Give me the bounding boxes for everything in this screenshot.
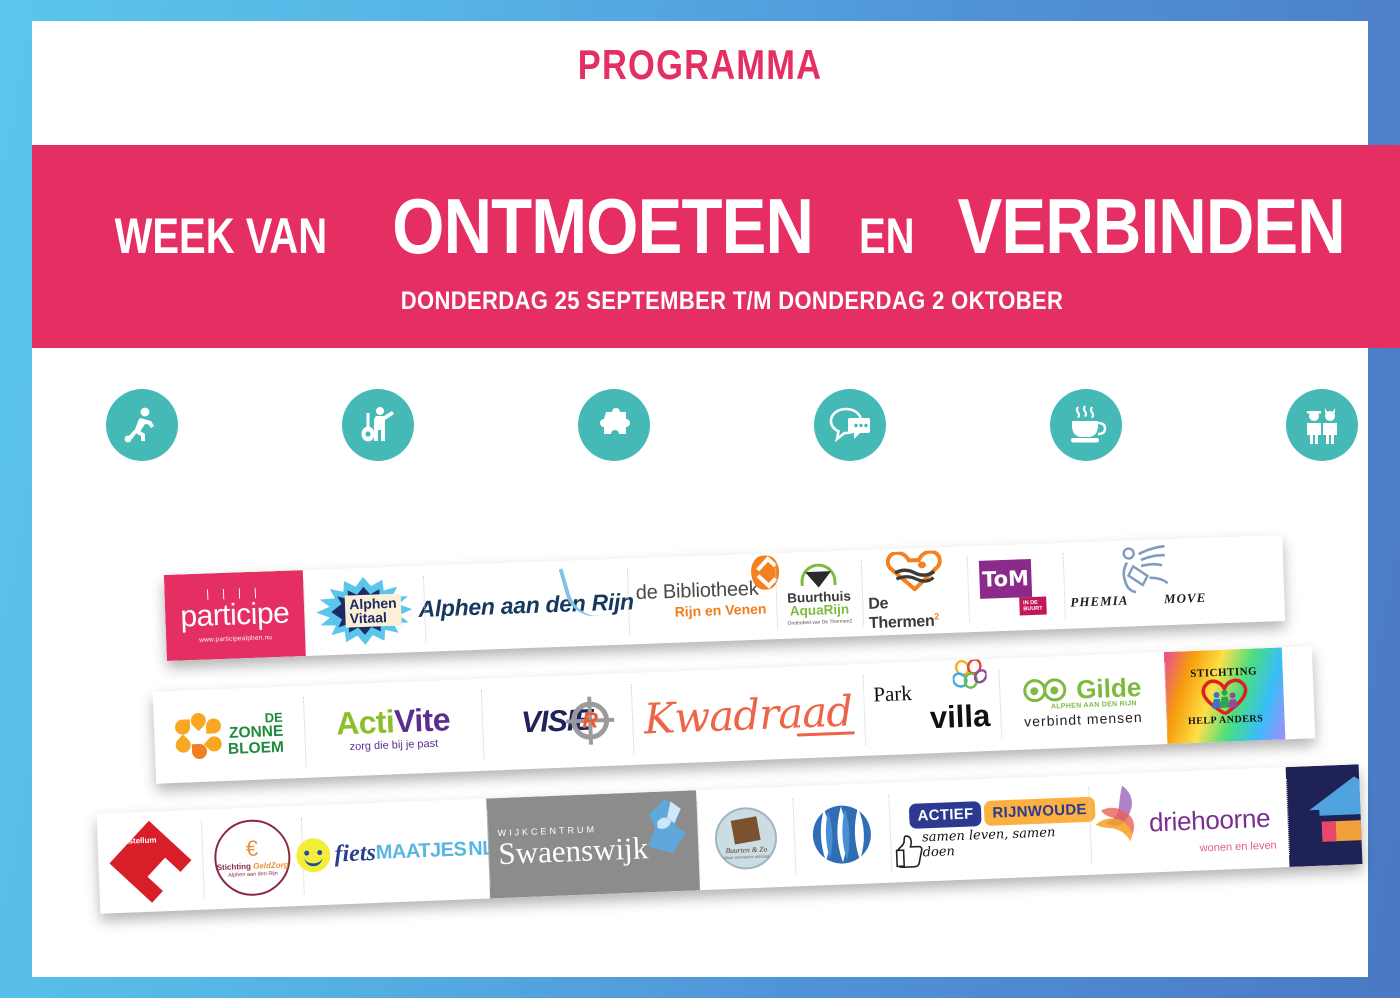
swaenswijk-swan-map-icon xyxy=(640,797,690,857)
gilde-owl-icon xyxy=(1023,676,1074,706)
logo-phemia-move: PHEMIA MOVE xyxy=(1062,538,1215,629)
logo-strip-3: castellum € Stichting GeldZorg Alphen aa… xyxy=(97,764,1363,914)
castellum-wordmark: castellum xyxy=(119,836,156,846)
logo-buurten-en-zo: Buurten & Zo Waar ontmoeten ontstaat xyxy=(696,787,796,891)
logo-blue-globe xyxy=(792,783,892,887)
alphen-vitaal-burst-icon: Alphen Vitaal xyxy=(311,573,418,649)
coffee-cup-icon xyxy=(1050,389,1122,461)
page-title: PROGRAMMA xyxy=(152,41,1248,89)
participe-url: www.participealphen.nu xyxy=(199,634,272,644)
logo-alphen-vitaal: Alphen Vitaal xyxy=(303,566,426,656)
music-figure-icon xyxy=(342,389,414,461)
gilde-tagline: verbindt mensen xyxy=(1024,709,1143,730)
logo-driehoorne: driehoorne wonen en leven xyxy=(1088,767,1290,875)
castellum-diamond-icon xyxy=(109,821,191,903)
aquarijn-house-icon xyxy=(796,563,841,591)
participe-wordmark: participe xyxy=(180,599,290,633)
title-part-ontmoeten: ONTMOETEN xyxy=(392,187,813,265)
geldzorg-line2: Alphen aan den Rijn xyxy=(228,871,278,879)
swaenswijk-line2: Swaenswijk xyxy=(498,832,649,869)
logo-de-zonnebloem: DE ZONNE BLOEM xyxy=(153,686,306,784)
logo-stichting-geldzorg: € Stichting GeldZorg Alphen aan den Rijn xyxy=(200,806,304,910)
park-villa-leaf-icon xyxy=(952,659,987,692)
logo-participe: | | | | participe www.participealphen.nu xyxy=(164,570,306,661)
thermen-wordmark: De Thermen2 xyxy=(868,592,963,633)
visie-target-icon: R xyxy=(565,696,615,746)
samen-buurt-tagline: SAMEN MAKEN WIJ DE BUURT xyxy=(1360,788,1363,827)
fietsmaatjes-smiley-icon xyxy=(296,838,331,873)
logo-de-thermen: De Thermen2 xyxy=(860,546,969,636)
logo-de-bibliotheek: de Bibliotheek Rijn en Venen xyxy=(627,553,778,644)
tom-sublabel: IN DEBUURT xyxy=(1019,596,1047,615)
logo-wijkcentrum-swaenswijk: WIJKCENTRUM Swaenswijk xyxy=(486,790,700,898)
logo-castellum: castellum xyxy=(97,810,205,914)
logo-fietsmaatjes: fiets MAATJES NL xyxy=(300,799,490,906)
alphen-aan-den-rijn-wordmark: Alphen aan den Rijn xyxy=(418,588,634,623)
logo-gilde: Gilde ALPHEN AAN DEN RIJN verbindt mense… xyxy=(998,652,1167,750)
title-band: WEEK VAN ONTMOETEN EN VERBINDEN DONDERDA… xyxy=(32,145,1400,348)
event-dates: DONDERDAG 25 SEPTEMBER T/M DONDERDAG 2 O… xyxy=(116,287,1348,316)
activite-wordmark: ActiVite xyxy=(336,703,451,739)
thermen-heart-swimmer-icon xyxy=(881,550,946,594)
driehoorne-tagline: wonen en leven xyxy=(1199,840,1276,855)
driehoorne-wordmark: driehoorne xyxy=(1148,802,1270,838)
logo-visie-r: VISIE R xyxy=(480,673,633,771)
rijnwoude-thumbs-up-icon xyxy=(894,833,925,868)
samen-buurt-house-icon xyxy=(1306,773,1362,851)
blue-globe-icon xyxy=(810,803,874,865)
geldzorg-seal-icon: € Stichting GeldZorg Alphen aan den Rijn xyxy=(213,818,292,897)
rijnwoude-tag2: RIJNWOUDE xyxy=(984,796,1095,825)
geldzorg-line1: Stichting GeldZorg xyxy=(217,860,289,872)
fietsmaatjes-text-a: fiets xyxy=(334,839,376,868)
move-wordmark: MOVE xyxy=(1164,590,1207,608)
fietsmaatjes-text-b: MAATJES xyxy=(375,838,466,865)
logo-actief-rijnwoude: ACTIEF RIJNWOUDE samen leven, samen doen xyxy=(888,775,1092,883)
driehoorne-swirl-icon xyxy=(1092,783,1146,845)
aquarijn-line3: Onderdeel van De Thermen2 xyxy=(788,619,853,627)
alphen-vitaal-line2: Vitaal xyxy=(349,609,387,626)
buurten-en-zo-line2: Waar ontmoeten ontstaat xyxy=(724,853,769,860)
activite-tagline: zorg die bij je past xyxy=(349,738,438,753)
zonnebloem-flower-icon xyxy=(175,712,223,760)
two-people-icon xyxy=(1286,389,1358,461)
logo-stichting-help-anders: STICHTING HELP ANDERS xyxy=(1164,647,1286,744)
zonnebloem-wordmark: DE ZONNE BLOEM xyxy=(227,710,285,757)
sports-figure-icon xyxy=(106,389,178,461)
villa-wordmark: villa xyxy=(929,701,990,733)
help-anders-hands-heart-icon xyxy=(1197,677,1252,715)
bibliotheek-line2: Rijn en Venen xyxy=(674,600,766,619)
event-title: WEEK VAN ONTMOETEN EN VERBINDEN xyxy=(32,187,1400,265)
logo-park-villa: Park villa xyxy=(862,659,1002,756)
buurten-en-zo-seal-icon: Buurten & Zo Waar ontmoeten ontstaat xyxy=(714,806,778,870)
poster-panel: PROGRAMMA WEEK VAN ONTMOETEN EN VERBINDE… xyxy=(32,21,1368,977)
rijnwoude-tagline: samen leven, samen doen xyxy=(922,824,1085,860)
logo-tom-in-de-buurt: ToM IN DEBUURT xyxy=(966,543,1065,632)
logo-activite: ActiVite zorg die bij je past xyxy=(303,679,484,778)
phemia-wordmark: PHEMIA xyxy=(1070,593,1129,611)
logo-kwadraad: Kwadraad xyxy=(630,664,865,765)
speech-bubbles-icon xyxy=(814,389,886,461)
geldzorg-euro-icon: € xyxy=(245,838,258,860)
park-wordmark: Park xyxy=(873,683,912,705)
aquarijn-line2: AquaRijn xyxy=(790,603,850,619)
tom-wordmark: ToM xyxy=(979,559,1032,599)
category-icon-row xyxy=(64,389,1400,461)
title-part-verbinden: VERBINDEN xyxy=(957,187,1344,265)
logo-strip-2: DE ZONNE BLOEM ActiVite zorg die bij je … xyxy=(153,646,1316,783)
title-part-week-van: WEEK VAN xyxy=(114,211,327,261)
logo-alphen-aan-den-rijn: Alphen aan den Rijn xyxy=(423,558,630,651)
logo-samen-maken-wij-de-buurt: SAMEN MAKEN WIJ DE BUURT xyxy=(1286,764,1363,867)
logo-strip-1: | | | | participe www.participealphen.nu… xyxy=(164,535,1285,661)
logo-buurthuis-aquarijn: Buurthuis AquaRijn Onderdeel van De Ther… xyxy=(774,550,863,639)
rijnwoude-tag1: ACTIEF xyxy=(909,801,982,829)
puzzle-piece-icon xyxy=(578,389,650,461)
title-part-en: EN xyxy=(859,211,915,261)
gilde-wordmark: Gilde xyxy=(1076,674,1142,703)
